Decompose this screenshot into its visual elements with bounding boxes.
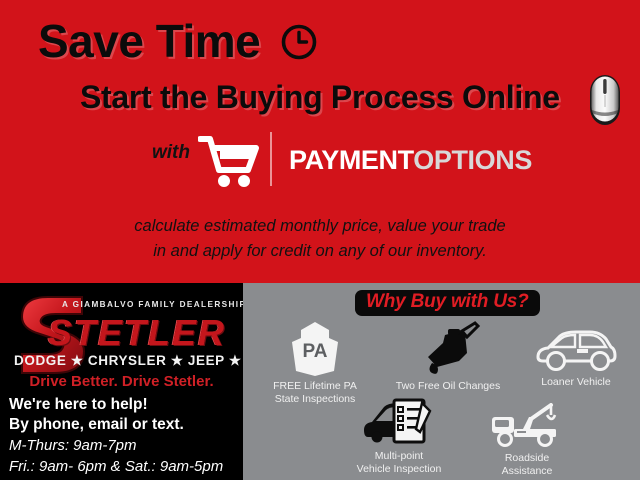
logo-family-line: A GIAMBALVO FAMILY DEALERSHIP — [62, 300, 246, 309]
tow-truck-icon — [467, 391, 587, 449]
subcopy-line-2: in and apply for credit on any of our in… — [0, 239, 640, 264]
contact-line-2: By phone, email or text. — [9, 415, 243, 435]
with-label: with — [152, 142, 190, 164]
shopping-cart-icon — [198, 134, 260, 195]
computer-mouse-icon — [588, 74, 622, 131]
page-title: Save Time — [38, 14, 260, 68]
feature-label: Loaner Vehicle — [516, 376, 636, 389]
contact-line-1: We're here to help! — [9, 395, 243, 415]
stetler-logo: A GIAMBALVO FAMILY DEALERSHIP STETLER DO… — [0, 285, 243, 390]
dealership-promo-banner: Save Time Start the Buying Process Onlin… — [0, 0, 640, 480]
logo-dealer-name: STETLER — [48, 312, 226, 354]
page-subtitle: Start the Buying Process Online — [80, 79, 560, 116]
feature-label: Multi-point Vehicle Inspection — [329, 450, 469, 475]
pa-keystone-icon: PA — [255, 319, 375, 377]
brand-divider — [270, 132, 272, 186]
feature-oil-changes: Two Free Oil Changes — [378, 319, 518, 393]
payment-options-wordmark: PAYMENTOPTIONS — [289, 145, 532, 176]
why-buy-badge: Why Buy with Us? — [355, 290, 540, 316]
car-icon — [516, 315, 636, 373]
feature-roadside-assistance: Roadside Assistance — [467, 391, 587, 477]
feature-multipoint-inspection: Multi-point Vehicle Inspection — [329, 389, 469, 475]
feature-loaner-vehicle: Loaner Vehicle — [516, 315, 636, 389]
contact-hours-weekend: Fri.: 9am- 6pm & Sat.: 9am-5pm — [9, 456, 243, 477]
why-buy-badge-label: Why Buy with Us? — [366, 291, 529, 312]
contact-hours-weekday: M-Thurs: 9am-7pm — [9, 435, 243, 456]
subcopy-line-1: calculate estimated monthly price, value… — [0, 214, 640, 239]
feature-label: Roadside Assistance — [467, 452, 587, 477]
why-buy-panel: Why Buy with Us? PA FREE Lifetime PA Sta… — [243, 283, 640, 480]
logo-tagline: Drive Better. Drive Stetler. — [14, 373, 229, 390]
clock-icon — [280, 23, 318, 66]
hero-panel: Save Time Start the Buying Process Onlin… — [0, 0, 640, 283]
wordmark-payment: PAYMENT — [289, 145, 413, 175]
dealer-info-panel: A GIAMBALVO FAMILY DEALERSHIP STETLER DO… — [0, 283, 243, 480]
hero-subcopy: calculate estimated monthly price, value… — [0, 214, 640, 264]
svg-text:PA: PA — [303, 341, 328, 362]
logo-brand-list: DODGE ★ CHRYSLER ★ JEEP ★ RAM — [14, 353, 229, 369]
wordmark-options: OPTIONS — [413, 145, 532, 175]
oil-can-icon — [378, 319, 518, 377]
contact-block: We're here to help! By phone, email or t… — [9, 395, 243, 477]
vehicle-checklist-icon — [329, 389, 469, 447]
